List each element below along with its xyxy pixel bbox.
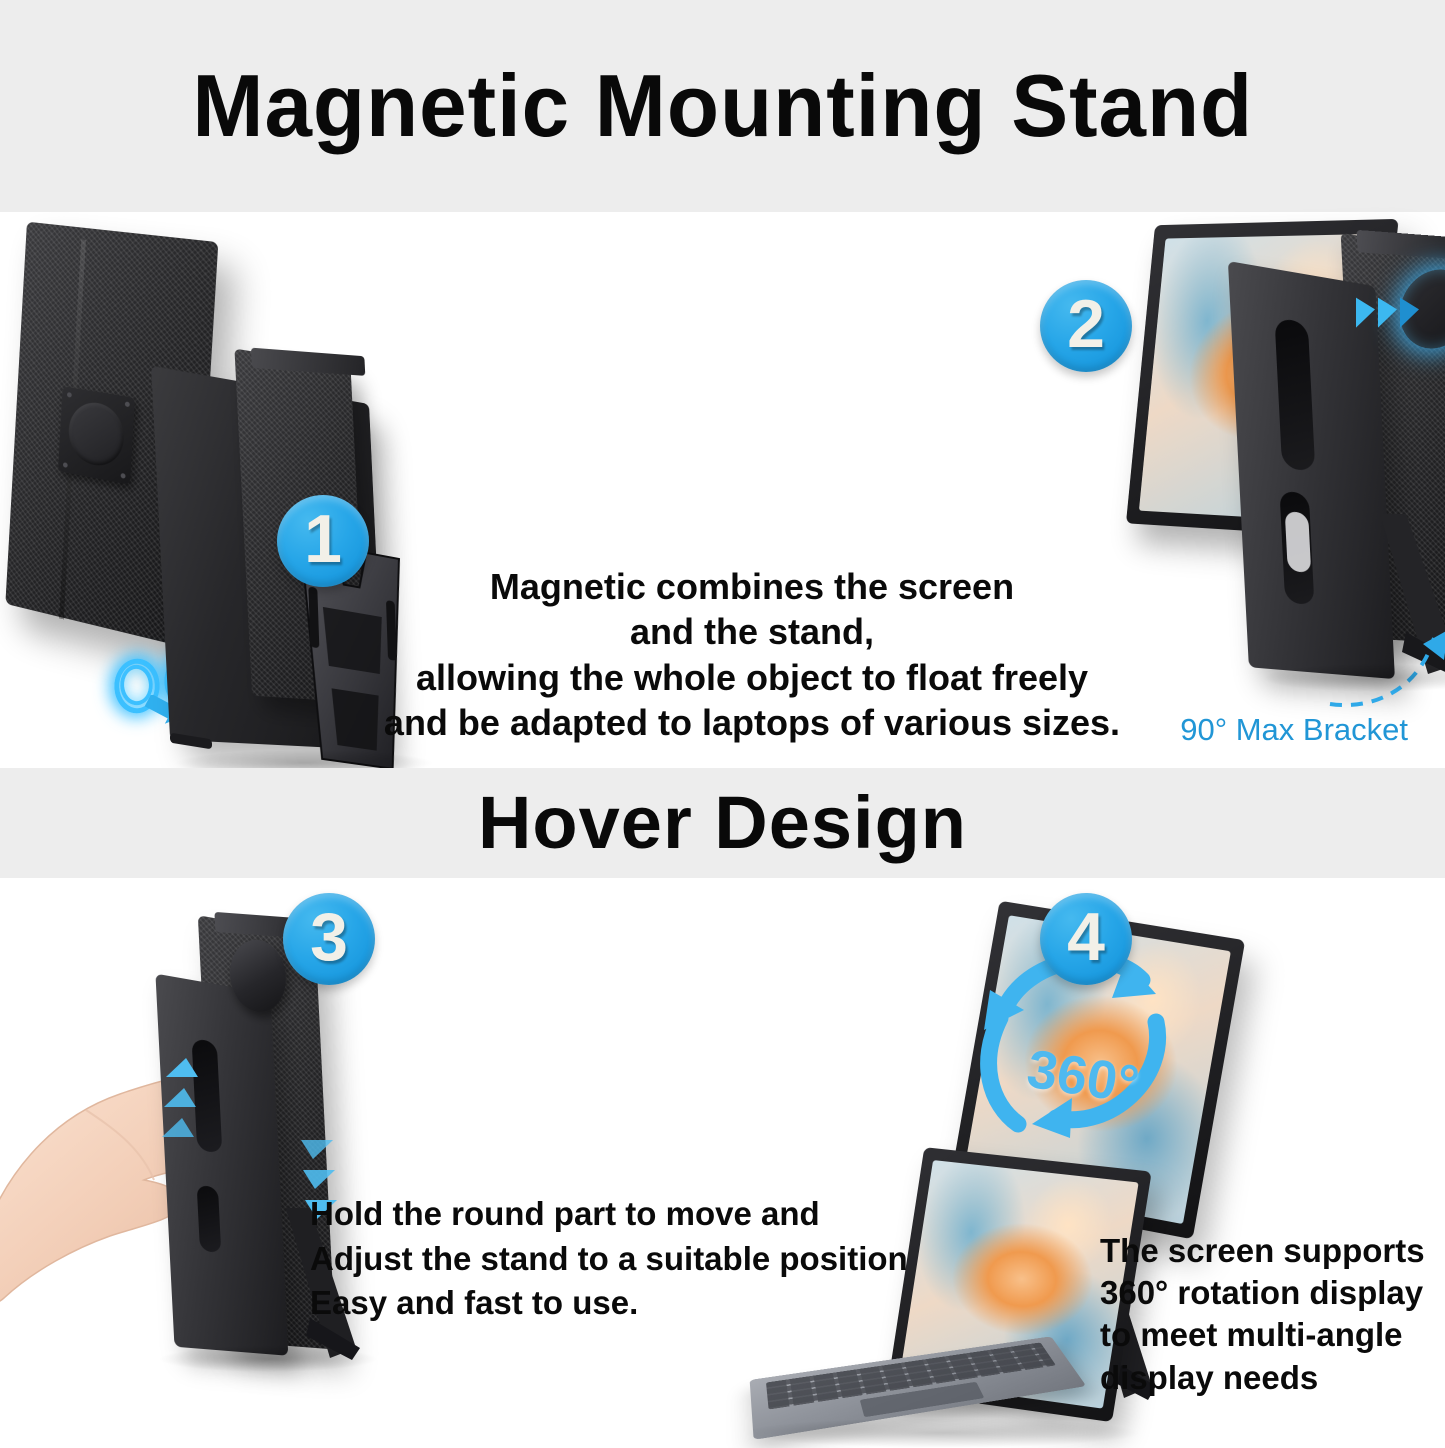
step-badge-2-label: 2 <box>1067 290 1105 358</box>
header-band-main: Magnetic Mounting Stand <box>0 0 1445 212</box>
magnetic-puck <box>58 386 135 484</box>
step-badge-2: 2 <box>1040 280 1132 372</box>
header-band-section: Hover Design <box>0 768 1445 878</box>
step-badge-4: 4 <box>1040 893 1132 985</box>
step-3-line-1: Hold the round part to move and <box>310 1192 950 1237</box>
chevron-up-icon <box>166 1058 202 1077</box>
step-4-line-1: The screen supports <box>1100 1230 1445 1272</box>
panel-step-1: 1 Magnetic combines the screen and the s… <box>0 212 722 768</box>
chevron-right-icon <box>1400 294 1419 327</box>
chevron-right-icon <box>1356 294 1375 327</box>
step-badge-4-label: 4 <box>1067 903 1105 971</box>
step-3-line-2: Adjust the stand to a suitable position <box>310 1237 950 1282</box>
step-4-description: The screen supports 360° rotation displa… <box>1100 1230 1445 1399</box>
panel-step-2: 2 <box>722 212 1445 768</box>
move-up-indicator <box>160 1058 230 1178</box>
step-4-line-3: to meet multi-angle <box>1100 1314 1445 1356</box>
panel-step-3: 3 <box>0 878 722 1445</box>
section-title: Hover Design <box>478 786 967 860</box>
chevron-up-icon <box>164 1088 200 1107</box>
chevron-right-icon <box>1378 294 1397 327</box>
bracket-angle-label: 90° Max Bracket <box>1030 712 1430 748</box>
chevron-down-icon <box>297 1140 333 1159</box>
step-3-line-3: Easy and fast to use. <box>310 1281 950 1326</box>
chevron-down-icon <box>299 1170 335 1189</box>
step-badge-3: 3 <box>283 893 375 985</box>
step-badge-1: 1 <box>277 495 369 587</box>
step-badge-1-label: 1 <box>304 505 342 573</box>
magnet-snap-indicator <box>1322 252 1445 362</box>
step-3-description: Hold the round part to move and Adjust t… <box>310 1192 950 1326</box>
step-4-line-2: 360° rotation display <box>1100 1272 1445 1314</box>
step-4-line-4: display needs <box>1100 1357 1445 1399</box>
chevron-up-icon <box>162 1118 198 1137</box>
page-title: Magnetic Mounting Stand <box>192 62 1253 150</box>
step-badge-3-label: 3 <box>310 903 348 971</box>
product-infographic: Magnetic Mounting Stand <box>0 0 1445 1445</box>
